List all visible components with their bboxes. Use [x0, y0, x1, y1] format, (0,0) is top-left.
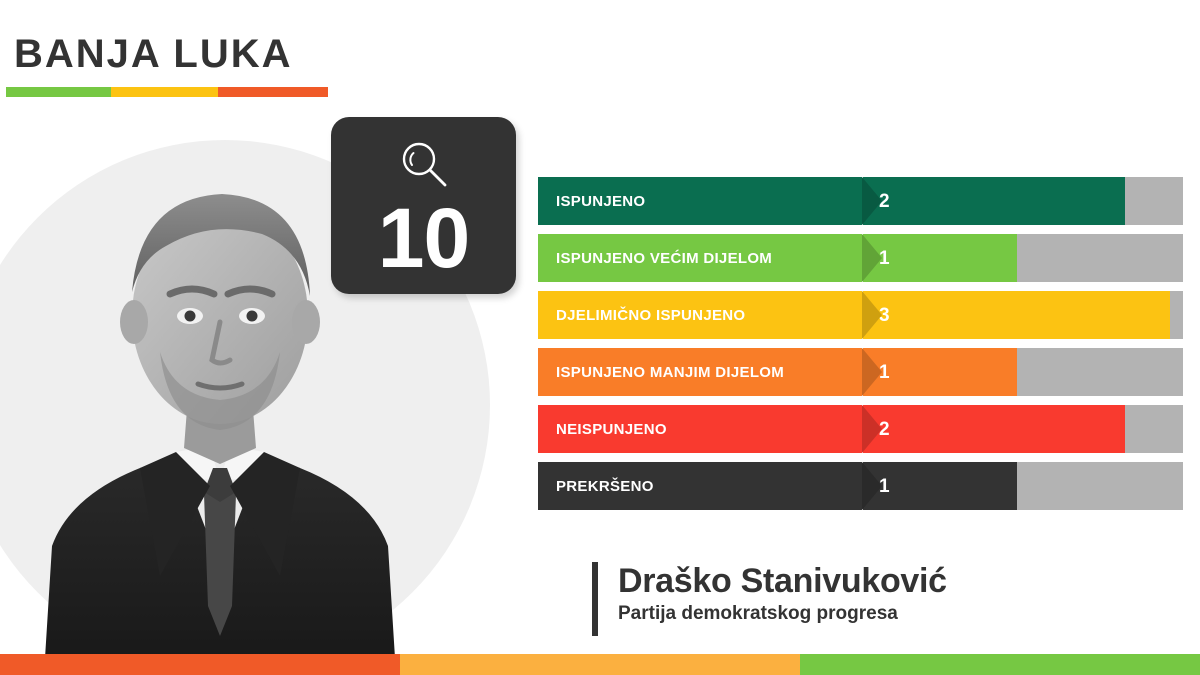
bar-label: NEISPUNJENO — [538, 405, 862, 453]
bar-row: 1 PREKRŠENO — [538, 462, 1188, 510]
score-badge: 10 — [331, 117, 516, 294]
bar-fill: 1 — [863, 234, 1017, 282]
title-underline — [6, 87, 328, 97]
footer-color-strip — [0, 654, 1200, 675]
candidate-party: Partija demokratskog progresa — [618, 603, 947, 626]
bar-row: 2 NEISPUNJENO — [538, 405, 1188, 453]
bar-label: ISPUNJENO VEĆIM DIJELOM — [538, 234, 862, 282]
bar-fill: 1 — [863, 462, 1017, 510]
bar-label-text: DJELIMIČNO ISPUNJENO — [556, 307, 745, 324]
bar-fill: 2 — [863, 177, 1125, 225]
footer-strip-segment-1 — [0, 654, 400, 675]
title-underline-segment-1 — [6, 87, 111, 97]
results-bar-chart: 2 ISPUNJENO 1 ISPUNJENO VEĆIM DIJELOM 3 — [538, 177, 1188, 519]
candidate-name: Draško Stanivuković — [618, 562, 947, 601]
bar-label-text: ISPUNJENO VEĆIM DIJELOM — [556, 250, 772, 267]
bar-label-text: NEISPUNJENO — [556, 421, 667, 438]
infographic-canvas: BANJA LUKA — [0, 0, 1200, 675]
bar-label: DJELIMIČNO ISPUNJENO — [538, 291, 862, 339]
bar-row: 1 ISPUNJENO VEĆIM DIJELOM — [538, 234, 1188, 282]
bar-label: PREKRŠENO — [538, 462, 862, 510]
bar-fill: 1 — [863, 348, 1017, 396]
bar-label: ISPUNJENO MANJIM DIJELOM — [538, 348, 862, 396]
bar-label: ISPUNJENO — [538, 177, 862, 225]
bar-fill: 2 — [863, 405, 1125, 453]
candidate-name-block: Draško Stanivuković Partija demokratskog… — [592, 562, 947, 636]
bar-fill: 3 — [863, 291, 1170, 339]
score-number: 10 — [378, 199, 469, 279]
footer-strip-segment-3 — [800, 654, 1200, 675]
title-underline-segment-2 — [111, 87, 218, 97]
magnifier-icon — [395, 137, 453, 195]
page-title: BANJA LUKA — [14, 34, 293, 74]
bar-row: 3 DJELIMIČNO ISPUNJENO — [538, 291, 1188, 339]
title-underline-segment-3 — [218, 87, 328, 97]
bar-label-text: PREKRŠENO — [556, 478, 654, 495]
bar-row: 2 ISPUNJENO — [538, 177, 1188, 225]
footer-strip-segment-2 — [400, 654, 800, 675]
bar-label-text: ISPUNJENO — [556, 193, 645, 210]
bar-label-text: ISPUNJENO MANJIM DIJELOM — [556, 364, 784, 381]
bar-row: 1 ISPUNJENO MANJIM DIJELOM — [538, 348, 1188, 396]
